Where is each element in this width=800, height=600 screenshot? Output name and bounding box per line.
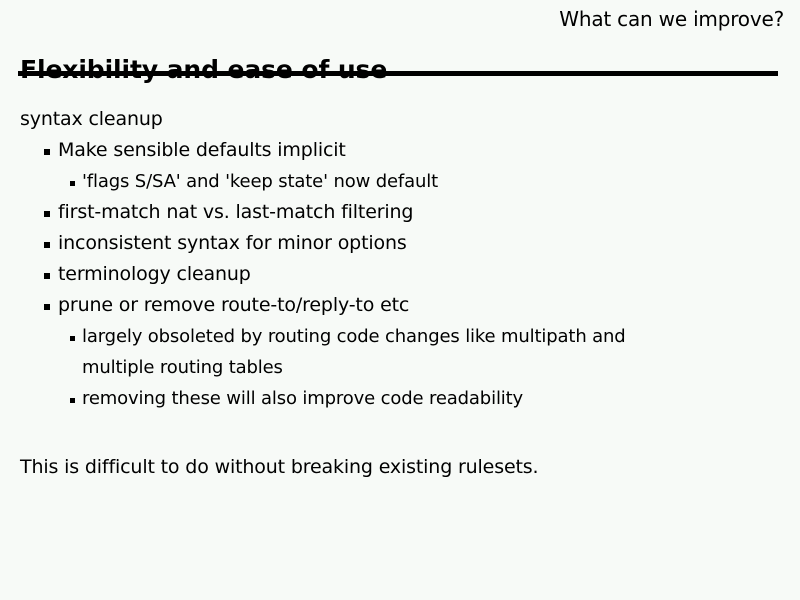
- list-item-label: largely obsoleted by routing code change…: [82, 326, 626, 347]
- square-bullet-icon: [70, 336, 75, 341]
- list-item: syntax cleanup: [0, 104, 800, 135]
- list-item-label: inconsistent syntax for minor options: [58, 232, 407, 254]
- list-item-label: first-match nat vs. last-match filtering: [58, 201, 413, 223]
- square-bullet-icon: [44, 211, 50, 217]
- slide-canvas: What can we improve? Flexibility and eas…: [0, 0, 800, 600]
- slide-kicker: What can we improve?: [559, 6, 784, 32]
- bullet-list: syntax cleanup Make sensible defaults im…: [0, 104, 800, 414]
- list-item-label: multiple routing tables: [82, 357, 283, 378]
- list-item-label: removing these will also improve code re…: [82, 388, 523, 409]
- list-item-label: prune or remove route-to/reply-to etc: [58, 294, 409, 316]
- list-item: Make sensible defaults implicit: [0, 135, 800, 166]
- list-item: prune or remove route-to/reply-to etc: [0, 290, 800, 321]
- square-bullet-icon: [44, 273, 50, 279]
- square-bullet-icon: [70, 181, 75, 186]
- list-item-label: syntax cleanup: [20, 108, 163, 130]
- list-item: terminology cleanup: [0, 259, 800, 290]
- list-item-continuation: multiple routing tables: [0, 352, 800, 383]
- list-item-label: Make sensible defaults implicit: [58, 139, 346, 161]
- square-bullet-icon: [70, 398, 75, 403]
- list-item: first-match nat vs. last-match filtering: [0, 197, 800, 228]
- square-bullet-icon: [44, 304, 50, 310]
- list-item: largely obsoleted by routing code change…: [0, 321, 800, 352]
- list-item-label: 'flags S/SA' and 'keep state' now defaul…: [82, 171, 438, 192]
- list-item: removing these will also improve code re…: [0, 383, 800, 414]
- closing-paragraph: This is difficult to do without breaking…: [20, 452, 538, 483]
- square-bullet-icon: [44, 149, 50, 155]
- square-bullet-icon: [44, 242, 50, 248]
- list-item: 'flags S/SA' and 'keep state' now defaul…: [0, 166, 800, 197]
- title-divider: [18, 71, 778, 76]
- list-item: inconsistent syntax for minor options: [0, 228, 800, 259]
- list-item-label: terminology cleanup: [58, 263, 251, 285]
- page-title: Flexibility and ease of use: [20, 54, 387, 85]
